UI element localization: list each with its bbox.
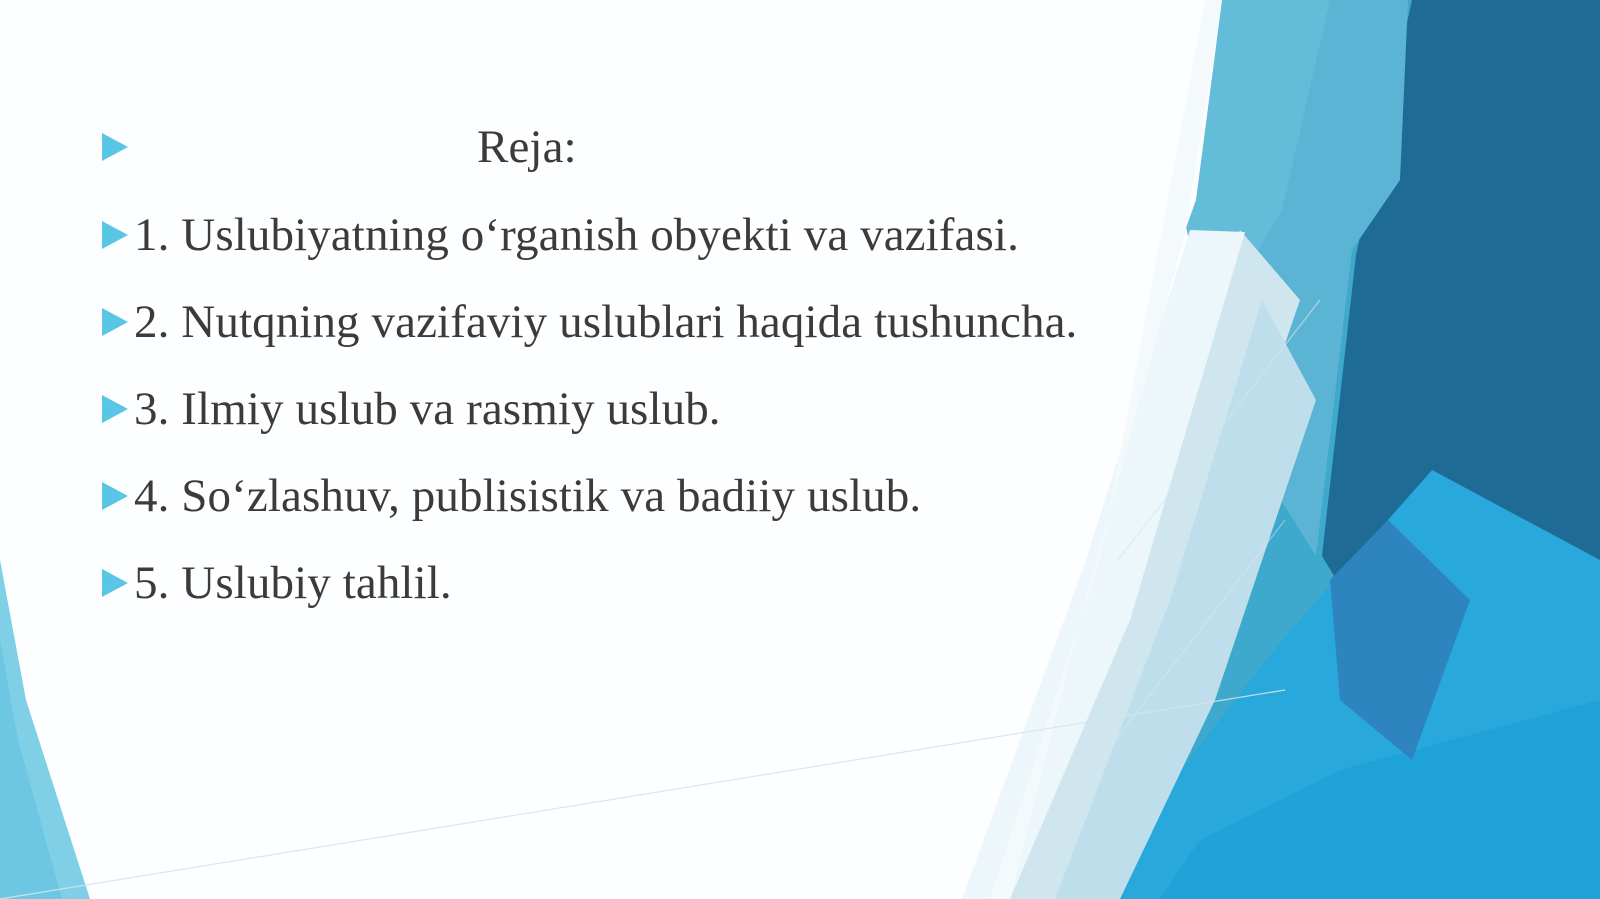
triangle-right-icon <box>100 566 130 600</box>
list-item-label: 4. Soʻzlashuv, publisistik va badiiy usl… <box>134 473 921 520</box>
list-item-label: 1. Uslubiyatning oʻrganish obyekti va va… <box>134 212 1019 259</box>
triangle-right-icon <box>100 305 130 339</box>
list-item: 3. Ilmiy uslub va rasmiy uslub. <box>100 370 721 448</box>
list-item: 4. Soʻzlashuv, publisistik va badiiy usl… <box>100 457 921 535</box>
triangle-right-icon <box>100 130 130 164</box>
slide-content: Reja: 1. Uslubiyatning oʻrganish obyekti… <box>0 0 1600 899</box>
list-item-label: 3. Ilmiy uslub va rasmiy uslub. <box>134 386 721 433</box>
presentation-slide: Reja: 1. Uslubiyatning oʻrganish obyekti… <box>0 0 1600 899</box>
list-item: 5. Uslubiy tahlil. <box>100 544 452 622</box>
list-item-label: 5. Uslubiy tahlil. <box>134 560 452 607</box>
page-title: Reja: <box>477 124 577 171</box>
triangle-right-icon <box>100 218 130 252</box>
slide-title-row: Reja: <box>100 108 577 186</box>
list-item: 2. Nutqning vazifaviy uslublari haqida t… <box>100 283 1077 361</box>
triangle-right-icon <box>100 479 130 513</box>
list-item: 1. Uslubiyatning oʻrganish obyekti va va… <box>100 196 1019 274</box>
list-item-label: 2. Nutqning vazifaviy uslublari haqida t… <box>134 299 1077 346</box>
triangle-right-icon <box>100 392 130 426</box>
